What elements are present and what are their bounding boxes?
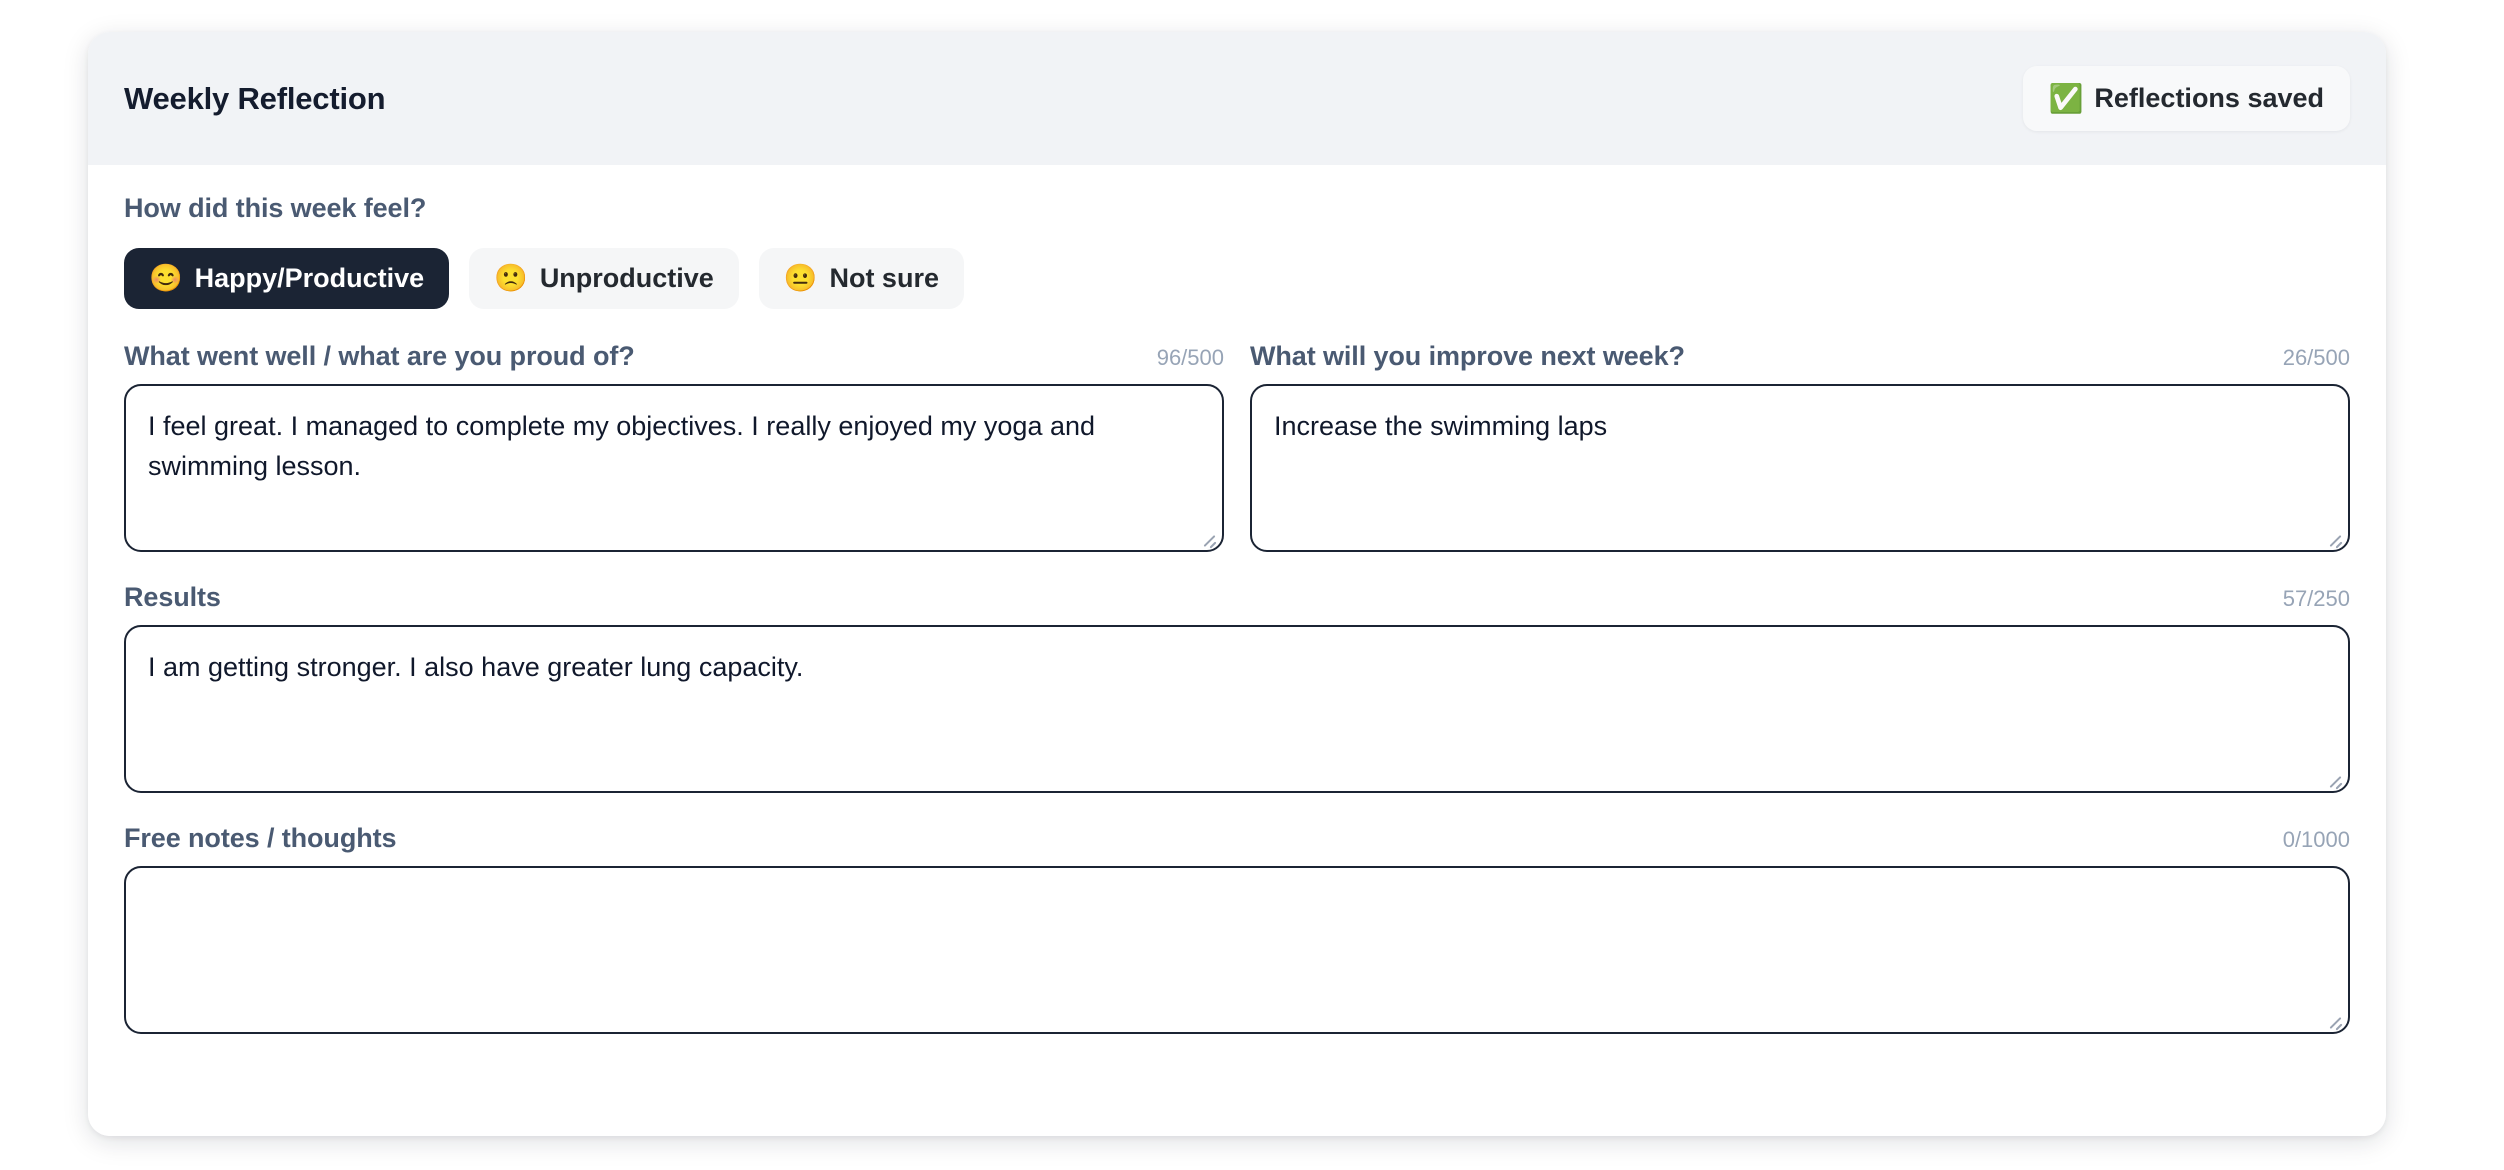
- free-notes-textarea[interactable]: [124, 866, 2350, 1034]
- resize-handle[interactable]: [2325, 528, 2343, 546]
- went-well-textarea[interactable]: [124, 384, 1224, 552]
- mood-option-label: Happy/Productive: [195, 265, 425, 292]
- page-title: Weekly Reflection: [124, 81, 385, 117]
- mood-question-label: How did this week feel?: [124, 193, 2350, 224]
- improve-next-week-textarea[interactable]: [1250, 384, 2350, 552]
- field-label: What went well / what are you proud of?: [124, 341, 635, 372]
- field-results: Results 57/250: [124, 582, 2350, 793]
- field-went-well: What went well / what are you proud of? …: [124, 341, 1224, 552]
- textarea-wrapper: [124, 384, 1224, 552]
- character-counter: 57/250: [2283, 586, 2350, 612]
- smiling-face-icon: 😊: [149, 265, 183, 292]
- field-label: Results: [124, 582, 221, 613]
- neutral-face-icon: 😐: [784, 265, 818, 292]
- mood-option-unproductive[interactable]: 🙁 Unproductive: [469, 248, 739, 309]
- reflection-field-row-2: Results 57/250: [124, 582, 2350, 793]
- slightly-frowning-face-icon: 🙁: [494, 265, 528, 292]
- mood-option-group: 😊 Happy/Productive 🙁 Unproductive 😐 Not …: [124, 248, 2350, 309]
- status-badge-label: Reflections saved: [2094, 83, 2324, 114]
- white-heavy-check-mark-icon: ✅: [2049, 85, 2084, 113]
- character-counter: 96/500: [1157, 345, 1224, 371]
- weekly-reflection-card: Weekly Reflection ✅ Reflections saved Ho…: [88, 32, 2386, 1136]
- field-improve-next-week: What will you improve next week? 26/500: [1250, 341, 2350, 552]
- textarea-wrapper: [1250, 384, 2350, 552]
- mood-option-not-sure[interactable]: 😐 Not sure: [759, 248, 964, 309]
- field-label: Free notes / thoughts: [124, 823, 396, 854]
- mood-option-label: Unproductive: [540, 265, 714, 292]
- resize-handle[interactable]: [2325, 1010, 2343, 1028]
- card-body: How did this week feel? 😊 Happy/Producti…: [88, 165, 2386, 1136]
- field-header: Free notes / thoughts 0/1000: [124, 823, 2350, 854]
- resize-handle[interactable]: [1199, 528, 1217, 546]
- resize-handle[interactable]: [2325, 769, 2343, 787]
- field-header: What went well / what are you proud of? …: [124, 341, 1224, 372]
- character-counter: 0/1000: [2283, 827, 2350, 853]
- screen-root: Weekly Reflection ✅ Reflections saved Ho…: [0, 0, 2504, 1170]
- textarea-wrapper: [124, 866, 2350, 1034]
- field-label: What will you improve next week?: [1250, 341, 1685, 372]
- field-header: What will you improve next week? 26/500: [1250, 341, 2350, 372]
- status-badge: ✅ Reflections saved: [2023, 66, 2350, 131]
- character-counter: 26/500: [2283, 345, 2350, 371]
- results-textarea[interactable]: [124, 625, 2350, 793]
- field-header: Results 57/250: [124, 582, 2350, 613]
- card-header: Weekly Reflection ✅ Reflections saved: [88, 32, 2386, 165]
- field-free-notes: Free notes / thoughts 0/1000: [124, 823, 2350, 1034]
- mood-option-happy-productive[interactable]: 😊 Happy/Productive: [124, 248, 449, 309]
- reflection-field-row-1: What went well / what are you proud of? …: [124, 341, 2350, 552]
- textarea-wrapper: [124, 625, 2350, 793]
- reflection-field-row-3: Free notes / thoughts 0/1000: [124, 823, 2350, 1034]
- mood-option-label: Not sure: [829, 265, 939, 292]
